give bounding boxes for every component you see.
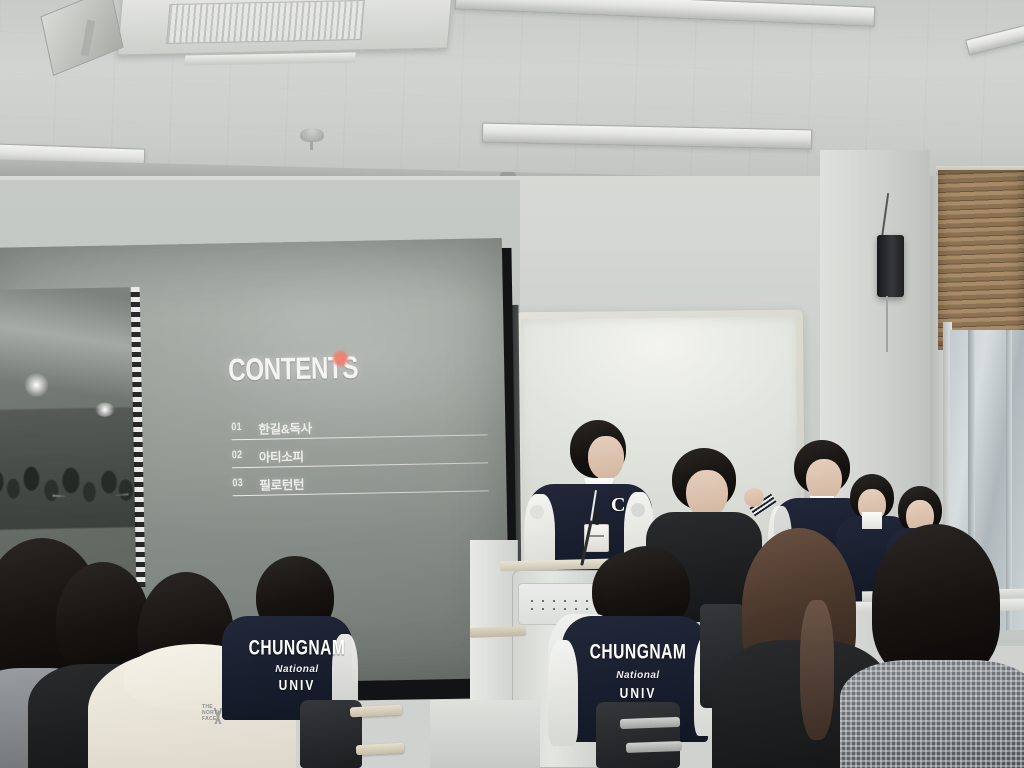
jacket-text-univ: UNIV: [232, 677, 352, 694]
slide-contents-list: 01 한길&독사 02 아티소피 03 필로턴턴: [231, 413, 495, 502]
window-mullion: [1006, 330, 1012, 630]
jacket-shoulder-patch: [631, 503, 645, 517]
jacket-text-block: CHUNGNAM National UNIV: [222, 624, 352, 700]
presenter-face: [588, 436, 624, 480]
chair-tablet-arm[interactable]: [620, 717, 680, 729]
contents-item-label: 필로턴턴: [259, 474, 304, 494]
jacket-text-national: National: [568, 670, 708, 681]
hair-strand: [800, 600, 834, 740]
contents-item-label: 한길&독사: [258, 418, 312, 438]
jacket-shoulder-patch: [530, 505, 544, 519]
jacket-letter-c: C: [611, 494, 625, 517]
microphone-icon: [593, 514, 601, 525]
contents-item-number: 03: [232, 477, 243, 489]
contents-item-number: 01: [231, 421, 242, 433]
contents-item-label: 아티소피: [259, 446, 304, 466]
raised-hand: [744, 488, 764, 507]
audience-coat: [840, 660, 1024, 768]
student-face: [686, 470, 728, 518]
jacket-text-chungnam: CHUNGNAM: [574, 640, 703, 665]
smoke-detector-icon: [300, 128, 324, 142]
speaker-cable: [886, 296, 888, 352]
jacket-text-chungnam: CHUNGNAM: [237, 636, 352, 661]
chair-tablet-arm[interactable]: [350, 705, 402, 718]
lecture-hall-photo: CONTENTS 01 한길&독사 02 아티소피 03 필로턴턴: [0, 0, 1024, 768]
jacket-text-national: National: [232, 664, 352, 675]
hoodie-brand-label: THE NORTH FACE: [202, 704, 221, 722]
floor-desk: [430, 700, 540, 768]
podium-shelf: [470, 626, 526, 638]
ac-grill-icon: [166, 0, 365, 44]
chair-tablet-arm[interactable]: [356, 743, 404, 755]
contents-item: 03 필로턴턴: [232, 469, 494, 502]
student-face: [806, 459, 842, 501]
smoke-detector-stem: [310, 141, 313, 150]
contents-item-number: 02: [232, 449, 243, 461]
audience-hair: [872, 524, 1000, 680]
chair-tablet-arm[interactable]: [626, 741, 682, 753]
shirt-collar: [862, 512, 882, 529]
wall-speaker-icon: [877, 235, 904, 297]
jacket-text-univ: UNIV: [568, 685, 708, 702]
chair-back[interactable]: [596, 702, 680, 768]
